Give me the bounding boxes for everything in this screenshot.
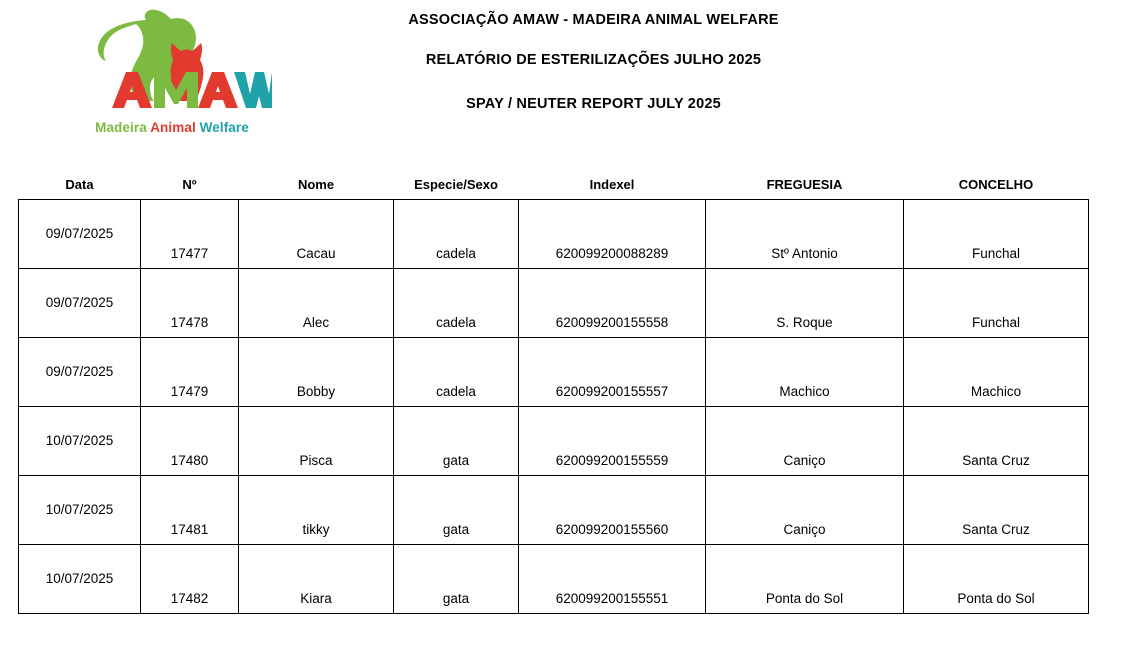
cell-nome: Kiara — [239, 545, 394, 614]
cell-data: 10/07/2025 — [19, 407, 141, 476]
table-row: 09/07/202517477Cacaucadela62009920008828… — [19, 200, 1089, 269]
document-title-report-en: SPAY / NEUTER REPORT JULY 2025 — [0, 96, 1123, 112]
cell-freguesia: Stº Antonio — [706, 200, 904, 269]
cell-concelho: Santa Cruz — [904, 476, 1089, 545]
cell-concelho: Ponta do Sol — [904, 545, 1089, 614]
table-row: 09/07/202517479Bobbycadela62009920015555… — [19, 338, 1089, 407]
cell-data: 09/07/2025 — [19, 338, 141, 407]
column-header-concelho: CONCELHO — [904, 178, 1089, 200]
cell-nome: Alec — [239, 269, 394, 338]
cell-especie-sexo: cadela — [394, 200, 519, 269]
cell-especie-sexo: cadela — [394, 269, 519, 338]
document-title-organization: ASSOCIAÇÃO AMAW - MADEIRA ANIMAL WELFARE — [0, 12, 1123, 28]
column-header-numero: Nº — [141, 178, 239, 200]
cell-numero: 17479 — [141, 338, 239, 407]
cell-concelho: Funchal — [904, 269, 1089, 338]
cell-indexel: 620099200155558 — [519, 269, 706, 338]
column-header-nome: Nome — [239, 178, 394, 200]
cell-data: 10/07/2025 — [19, 476, 141, 545]
cell-nome: Cacau — [239, 200, 394, 269]
table-row: 09/07/202517478Aleccadela620099200155558… — [19, 269, 1089, 338]
cell-numero: 17482 — [141, 545, 239, 614]
cell-freguesia: Caniço — [706, 476, 904, 545]
document-title-report-pt: RELATÓRIO DE ESTERILIZAÇÕES JULHO 2025 — [0, 52, 1123, 68]
cell-data: 09/07/2025 — [19, 200, 141, 269]
cell-indexel: 620099200155551 — [519, 545, 706, 614]
cell-especie-sexo: gata — [394, 407, 519, 476]
logo-tagline: Madeira Animal Welfare — [72, 120, 272, 135]
cell-freguesia: S. Roque — [706, 269, 904, 338]
cell-concelho: Machico — [904, 338, 1089, 407]
sterilization-report-table-container: Data Nº Nome Especie/Sexo Indexel FREGUE… — [18, 178, 1088, 614]
cell-indexel: 620099200088289 — [519, 200, 706, 269]
cell-numero: 17480 — [141, 407, 239, 476]
cell-indexel: 620099200155559 — [519, 407, 706, 476]
cell-nome: Pisca — [239, 407, 394, 476]
cell-concelho: Funchal — [904, 200, 1089, 269]
logo-tagline-madeira: Madeira — [95, 120, 147, 135]
cell-nome: tikky — [239, 476, 394, 545]
cell-concelho: Santa Cruz — [904, 407, 1089, 476]
cell-numero: 17477 — [141, 200, 239, 269]
table-row: 10/07/202517481tikkygata620099200155560C… — [19, 476, 1089, 545]
table-header-row: Data Nº Nome Especie/Sexo Indexel FREGUE… — [19, 178, 1089, 200]
cell-data: 10/07/2025 — [19, 545, 141, 614]
logo-tagline-welfare: Welfare — [200, 120, 249, 135]
cell-especie-sexo: gata — [394, 476, 519, 545]
cell-especie-sexo: gata — [394, 545, 519, 614]
cell-numero: 17481 — [141, 476, 239, 545]
column-header-indexel: Indexel — [519, 178, 706, 200]
cell-freguesia: Ponta do Sol — [706, 545, 904, 614]
column-header-data: Data — [19, 178, 141, 200]
cell-nome: Bobby — [239, 338, 394, 407]
table-row: 10/07/202517480Piscagata620099200155559C… — [19, 407, 1089, 476]
cell-freguesia: Caniço — [706, 407, 904, 476]
cell-numero: 17478 — [141, 269, 239, 338]
cell-indexel: 620099200155557 — [519, 338, 706, 407]
cell-freguesia: Machico — [706, 338, 904, 407]
logo-tagline-animal: Animal — [150, 120, 196, 135]
cell-especie-sexo: cadela — [394, 338, 519, 407]
sterilization-report-table: Data Nº Nome Especie/Sexo Indexel FREGUE… — [18, 178, 1089, 614]
cell-data: 09/07/2025 — [19, 269, 141, 338]
column-header-freguesia: FREGUESIA — [706, 178, 904, 200]
column-header-especie-sexo: Especie/Sexo — [394, 178, 519, 200]
cell-indexel: 620099200155560 — [519, 476, 706, 545]
table-row: 10/07/202517482Kiaragata620099200155551P… — [19, 545, 1089, 614]
